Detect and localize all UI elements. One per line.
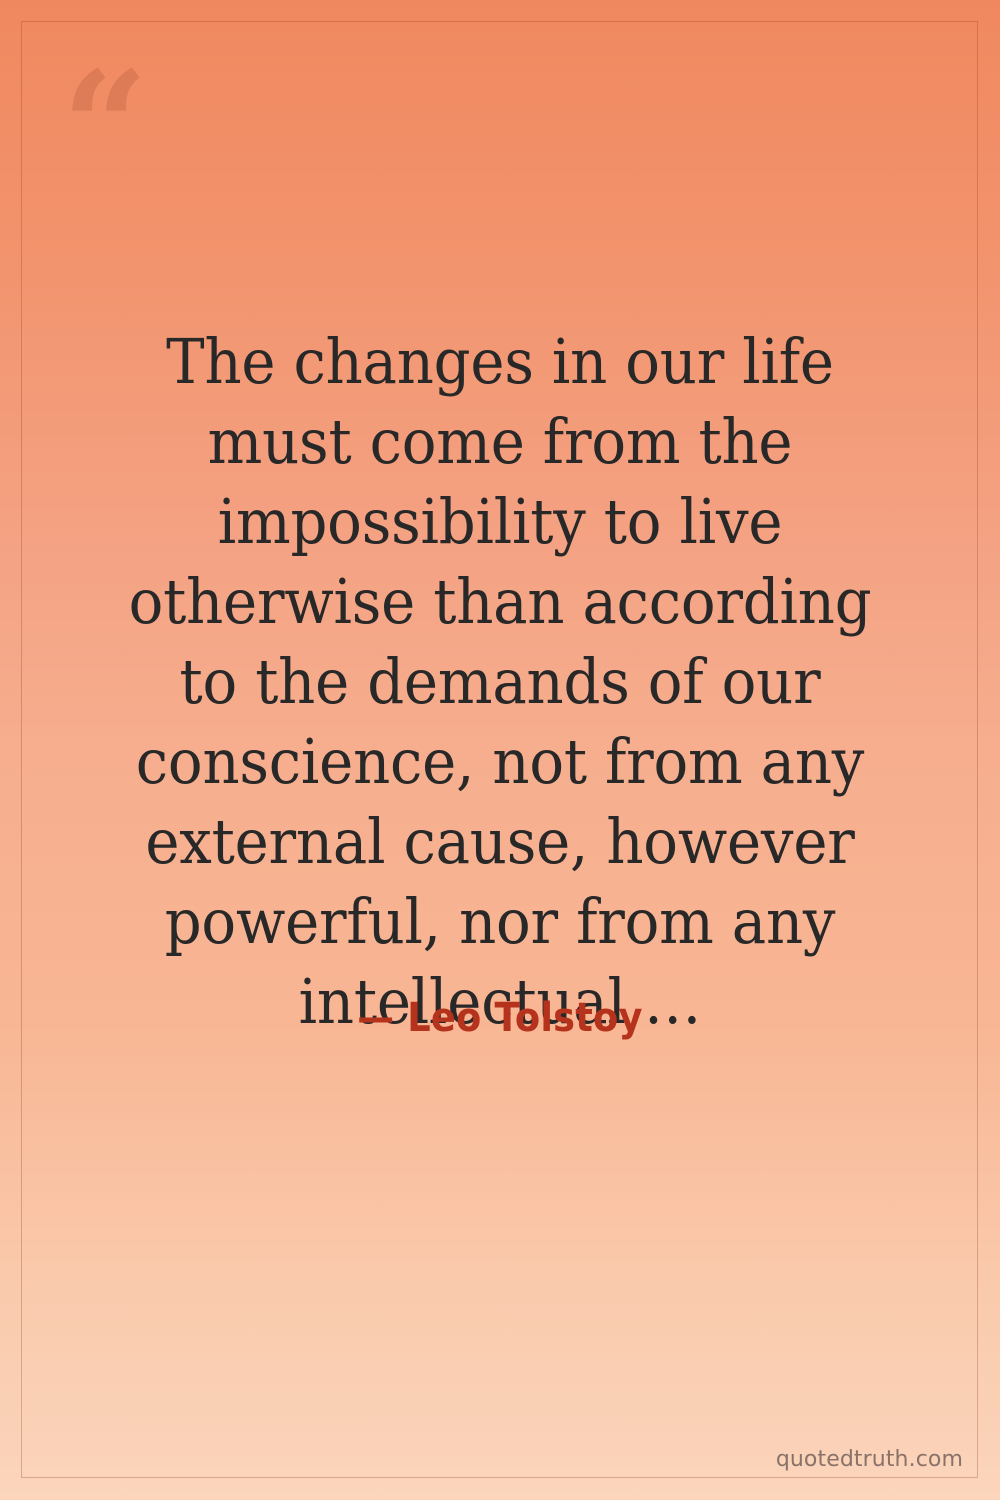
quote-content-area: The changes in our life must come from t… (0, 0, 1000, 1500)
quote-card: “ The changes in our life must come from… (0, 0, 1000, 1500)
site-watermark: quotedtruth.com (776, 1447, 963, 1473)
quote-text: The changes in our life must come from t… (100, 322, 900, 1042)
quote-author: — Leo Tolstoy (104, 993, 895, 1043)
